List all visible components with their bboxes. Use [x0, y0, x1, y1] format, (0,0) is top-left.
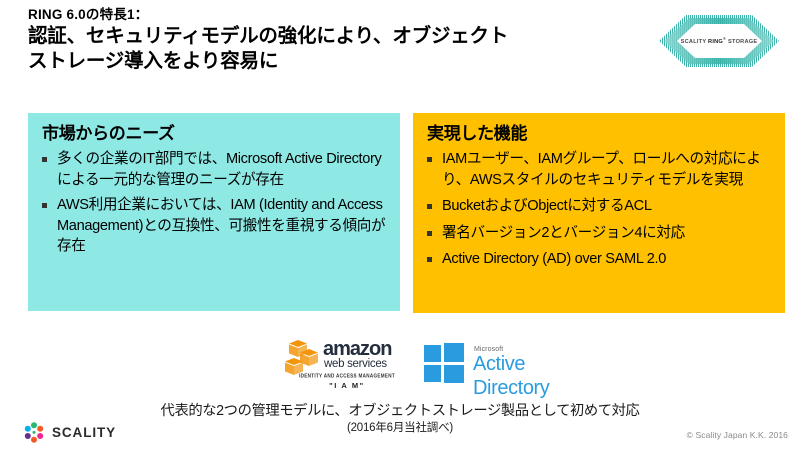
windows-flag-icon	[424, 343, 464, 383]
slide-title-block: RING 6.0の特長1： 認証、セキュリティモデルの強化により、オブジェクト …	[28, 6, 668, 74]
bullet-square-icon	[427, 231, 432, 236]
list-item-text: BucketおよびObjectに対するACL	[442, 198, 652, 214]
bullet-square-icon	[42, 157, 47, 162]
aws-iam-logo: amazon web services IDENTITY AND ACCESS …	[285, 337, 403, 391]
caption-main-text: 代表的な2つの管理モデルに、オブジェクトストレージ製品として初めて対応	[0, 402, 800, 421]
list-item-text: 多くの企業のIT部門では、Microsoft Active Directoryに…	[57, 151, 381, 188]
copyright-notice: © Scality Japan K.K. 2016	[687, 430, 788, 440]
bullet-square-icon	[427, 257, 432, 262]
aws-iam-tagline: IDENTITY AND ACCESS MANAGEMENT	[293, 372, 401, 378]
aws-amazon-wordmark: amazon	[323, 339, 391, 359]
panel-features-heading: 実現した機能	[427, 123, 775, 145]
amazon-boxes-icon	[285, 339, 325, 375]
list-item: IAMユーザー、IAMグループ、ロールへの対応により、AWSスタイルのセキュリテ…	[423, 149, 775, 190]
scality-circle-mark-icon	[22, 421, 46, 445]
aws-iam-abbrev: "I A M"	[293, 381, 401, 390]
ring-badge-text-left: SCALITY	[681, 39, 708, 45]
list-item-text: Active Directory (AD) over SAML 2.0	[442, 251, 666, 267]
ring-badge-text-right: STORAGE	[726, 39, 757, 45]
scality-wordmark: SCALITY	[52, 425, 116, 440]
active-directory-wordmark: Active Directory	[473, 352, 592, 400]
slide-headline: 認証、セキュリティモデルの強化により、オブジェクト ストレージ導入をより容易に	[28, 24, 668, 74]
list-item: Active Directory (AD) over SAML 2.0	[423, 249, 775, 270]
panel-needs-heading: 市場からのニーズ	[42, 123, 390, 145]
list-item: 署名バージョン2とバージョン4に対応	[423, 223, 775, 244]
panel-features-bullet-list: IAMユーザー、IAMグループ、ロールへの対応により、AWSスタイルのセキュリテ…	[423, 149, 775, 270]
list-item: AWS利用企業においては、IAM (Identity and Access Ma…	[38, 195, 390, 257]
panel-implemented-features: 実現した機能 IAMユーザー、IAMグループ、ロールへの対応により、AWSスタイ…	[413, 113, 785, 313]
list-item: 多くの企業のIT部門では、Microsoft Active Directoryに…	[38, 149, 390, 190]
list-item-text: 署名バージョン2とバージョン4に対応	[442, 225, 685, 241]
list-item: BucketおよびObjectに対するACL	[423, 196, 775, 217]
bullet-square-icon	[427, 157, 432, 162]
ring-badge-text-ring: RING	[708, 39, 723, 45]
bullet-square-icon	[427, 204, 432, 209]
aws-webservices-wordmark: web services	[324, 358, 387, 370]
slide-eyebrow: RING 6.0の特長1：	[28, 6, 668, 23]
panel-market-needs: 市場からのニーズ 多くの企業のIT部門では、Microsoft Active D…	[28, 113, 400, 311]
panel-needs-bullet-list: 多くの企業のIT部門では、Microsoft Active Directoryに…	[38, 149, 390, 257]
slide-headline-line-1: 認証、セキュリティモデルの強化により、オブジェクト	[28, 24, 668, 49]
list-item-text: AWS利用企業においては、IAM (Identity and Access Ma…	[57, 197, 385, 254]
scality-footer-logo: SCALITY	[22, 420, 134, 446]
list-item-text: IAMユーザー、IAMグループ、ロールへの対応により、AWSスタイルのセキュリテ…	[442, 151, 761, 188]
ring-badge-text: SCALITY RING® STORAGE	[656, 36, 782, 45]
bullet-square-icon	[42, 203, 47, 208]
slide-headline-line-2: ストレージ導入をより容易に	[28, 49, 668, 74]
microsoft-active-directory-logo: Microsoft Active Directory	[424, 343, 592, 385]
scality-ring-storage-logo: SCALITY RING® STORAGE	[656, 12, 782, 70]
